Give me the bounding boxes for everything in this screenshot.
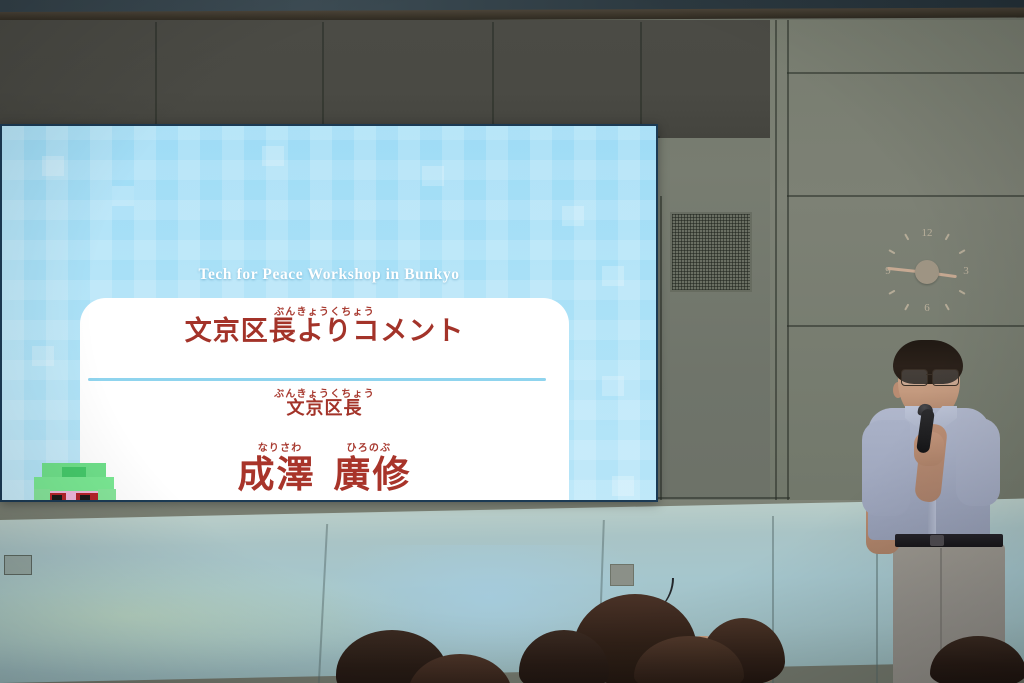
clock-hub: [915, 260, 939, 284]
avatar-hair: [62, 467, 86, 477]
wall-outlet-plate: [4, 555, 32, 575]
slide-heading-text: 文京区長よりコメント: [80, 318, 569, 345]
slide-role-text: 文京区長: [80, 400, 569, 418]
wall-seam: [787, 72, 1024, 74]
wall-seam: [492, 22, 494, 138]
projection-screen: Tech for Peace Workshop in Bunkyo ぶんきょうく…: [0, 124, 658, 502]
slide-name-given: 廣修: [334, 456, 412, 493]
wall-clock: 12 3 6 9: [877, 222, 977, 322]
wall-seam: [787, 325, 1024, 327]
wall-seam: [660, 196, 662, 526]
slide-header-title: Tech for Peace Workshop in Bunkyo: [2, 266, 656, 284]
slide-name-group: なりさわ ひろのぶ 成澤 廣修: [80, 444, 569, 493]
clock-numeral-12: 12: [918, 227, 936, 239]
presenter-sleeve-right: [956, 418, 1000, 506]
scene-photo: 12 3 6 9 Tech for Peace Workshop in Bunk…: [0, 0, 1024, 683]
clock-numeral-3: 3: [957, 265, 975, 277]
presenter-belt: [895, 534, 1003, 547]
avatar-eye: [80, 495, 90, 502]
slide-name-row: 成澤 廣修: [80, 456, 569, 493]
slide-heading-group: ぶんきょうくちょう 文京区長よりコメント: [80, 308, 569, 345]
slide-name-family: 成澤: [238, 456, 316, 493]
wall-vent-grille: [672, 214, 750, 290]
slide-name-furigana-row: なりさわ ひろのぶ: [80, 444, 569, 454]
wall-seam: [322, 22, 324, 138]
slide-role-group: ぶんきょうくちょう 文京区長: [80, 390, 569, 418]
avatar-hair: [98, 489, 116, 502]
avatar-hair: [34, 489, 50, 502]
presenter-glasses-left-lens: [901, 369, 928, 386]
clock-numeral-6: 6: [918, 302, 936, 314]
presenter-belt-buckle: [930, 535, 944, 546]
wall-seam: [787, 195, 1024, 197]
avatar-eye: [52, 495, 62, 502]
presenter-sleeve-left: [862, 420, 910, 516]
wall-seam: [155, 22, 157, 138]
minecraft-character-avatar: [20, 463, 138, 502]
slide-divider: [88, 378, 546, 381]
presenter-glasses-bridge: [926, 374, 932, 375]
presenter-glasses-right-lens: [932, 369, 959, 386]
wall-seam: [640, 22, 642, 138]
